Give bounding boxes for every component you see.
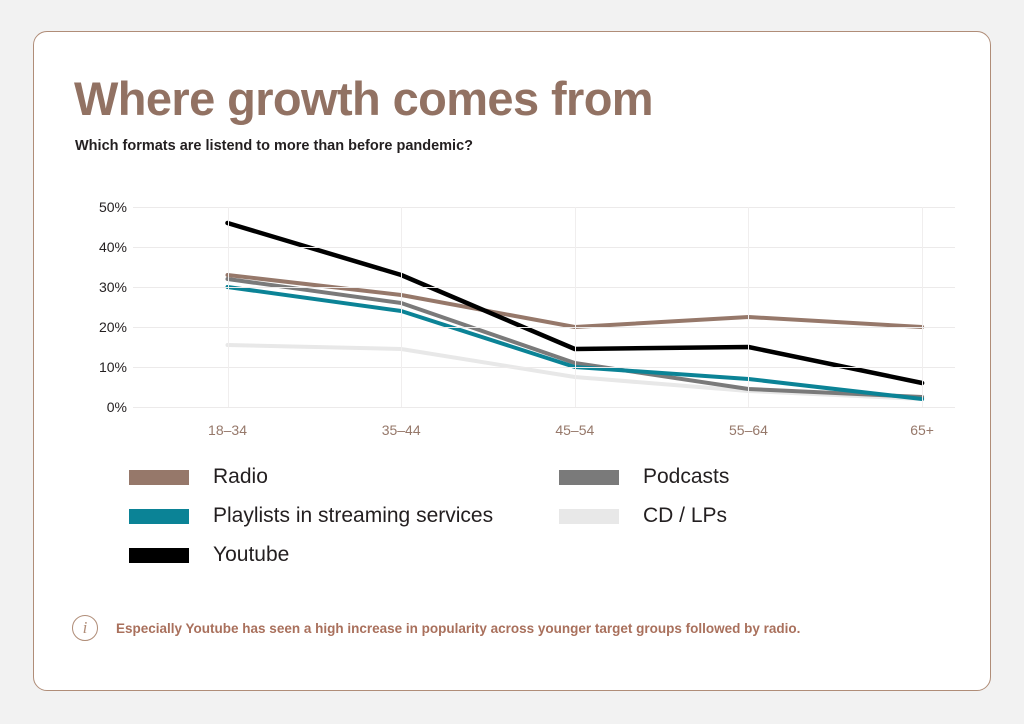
gridline-horizontal bbox=[133, 407, 955, 408]
legend-color-swatch bbox=[559, 509, 619, 524]
x-axis-tick-label: 35–44 bbox=[382, 422, 421, 438]
legend-color-swatch bbox=[129, 470, 189, 485]
y-axis-tick-label: 30% bbox=[99, 279, 127, 295]
gridline-horizontal bbox=[133, 207, 955, 208]
x-axis-tick-label: 65+ bbox=[910, 422, 934, 438]
footnote-text: Especially Youtube has seen a high incre… bbox=[116, 621, 800, 636]
legend-item-label: Youtube bbox=[213, 543, 289, 567]
footnote: i Especially Youtube has seen a high inc… bbox=[72, 615, 800, 641]
y-axis-tick-label: 50% bbox=[99, 199, 127, 215]
info-circle-icon: i bbox=[72, 615, 98, 641]
legend-item-label: Podcasts bbox=[643, 465, 729, 489]
chart-card: Where growth comes from Which formats ar… bbox=[33, 31, 991, 691]
gridline-horizontal bbox=[133, 367, 955, 368]
x-axis: 18–3435–4445–5455–6465+ bbox=[133, 422, 955, 446]
chart-legend: RadioPlaylists in streaming servicesYout… bbox=[129, 464, 849, 584]
x-axis-tick-label: 45–54 bbox=[555, 422, 594, 438]
gridline-horizontal bbox=[133, 247, 955, 248]
gridline-horizontal bbox=[133, 287, 955, 288]
gridline-horizontal bbox=[133, 327, 955, 328]
legend-color-swatch bbox=[129, 548, 189, 563]
x-axis-tick-label: 18–34 bbox=[208, 422, 247, 438]
legend-item[interactable]: CD / LPs bbox=[559, 503, 727, 529]
gridline-vertical bbox=[228, 207, 229, 407]
y-axis-tick-label: 40% bbox=[99, 239, 127, 255]
legend-item[interactable]: Playlists in streaming services bbox=[129, 503, 493, 529]
legend-item[interactable]: Youtube bbox=[129, 542, 289, 568]
gridline-vertical bbox=[748, 207, 749, 407]
y-axis-tick-label: 20% bbox=[99, 319, 127, 335]
plot-grid bbox=[133, 207, 955, 407]
legend-item[interactable]: Podcasts bbox=[559, 464, 729, 490]
legend-item-label: CD / LPs bbox=[643, 504, 727, 528]
page-subtitle: Which formats are listend to more than b… bbox=[75, 138, 473, 154]
y-axis-tick-label: 0% bbox=[107, 399, 127, 415]
gridline-vertical bbox=[401, 207, 402, 407]
legend-item-label: Playlists in streaming services bbox=[213, 504, 493, 528]
gridline-vertical bbox=[922, 207, 923, 407]
line-chart: 0%10%20%30%40%50% 18–3435–4445–5455–6465… bbox=[75, 207, 955, 452]
y-axis: 0%10%20%30%40%50% bbox=[75, 207, 127, 407]
legend-color-swatch bbox=[129, 509, 189, 524]
legend-item-label: Radio bbox=[213, 465, 268, 489]
gridline-vertical bbox=[575, 207, 576, 407]
chart-lines bbox=[133, 207, 955, 407]
legend-item[interactable]: Radio bbox=[129, 464, 268, 490]
legend-color-swatch bbox=[559, 470, 619, 485]
y-axis-tick-label: 10% bbox=[99, 359, 127, 375]
x-axis-tick-label: 55–64 bbox=[729, 422, 768, 438]
page-title: Where growth comes from bbox=[74, 71, 653, 126]
